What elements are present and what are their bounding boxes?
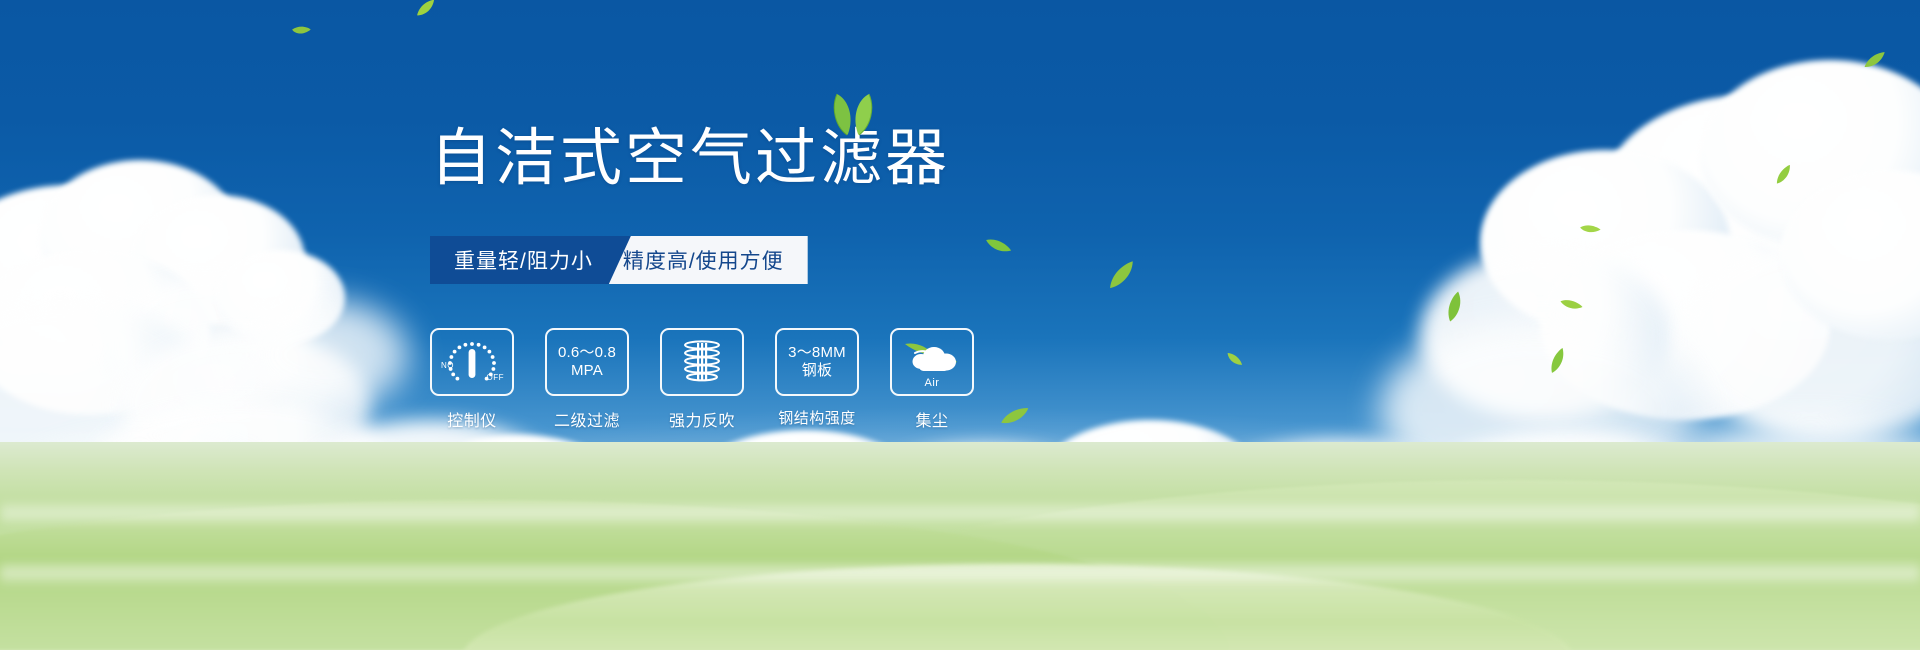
tab-label: 精度高/使用方便 <box>623 245 784 275</box>
feature-box-line2: MPA <box>558 362 616 380</box>
feature-label: 强力反吹 <box>669 407 735 431</box>
feature-box-line2: 钢板 <box>788 362 846 380</box>
banner-content: 自洁式空气过滤器 重量轻/阻力小 精度高/使用方便 <box>0 0 1920 650</box>
title-block: 自洁式空气过滤器 <box>430 128 950 190</box>
feature-strong-backblow[interactable]: 强力反吹 <box>660 328 744 431</box>
feature-two-stage-filtration[interactable]: 0.6～0.8 MPA 二级过滤 <box>545 328 629 431</box>
pressure-text-icon: 0.6～0.8 MPA <box>558 344 616 379</box>
feature-box-line1: 3～8MM <box>788 344 846 362</box>
feature-icon-box: Air <box>890 328 974 396</box>
feature-icon-box: 3～8MM 钢板 <box>775 328 859 396</box>
steel-plate-text-icon: 3～8MM 钢板 <box>788 344 846 379</box>
feature-icon-box <box>660 328 744 396</box>
feature-label: 集尘 <box>915 407 948 431</box>
feature-label: 二级过滤 <box>554 407 620 431</box>
banner-stage: 自洁式空气过滤器 重量轻/阻力小 精度高/使用方便 <box>0 0 1920 650</box>
feature-controller[interactable]: NO OFF 控制仪 <box>430 328 514 431</box>
tab-high-precision-easy-use[interactable]: 精度高/使用方便 <box>609 236 808 284</box>
feature-icon-box: NO OFF <box>430 328 514 396</box>
feature-dust-collection[interactable]: Air 集尘 <box>890 328 974 431</box>
title-leaf-pair-icon <box>825 92 881 141</box>
cloud-air-icon <box>901 338 963 382</box>
subtitle-tabs: 重量轻/阻力小 精度高/使用方便 <box>430 236 808 284</box>
feature-label: 控制仪 <box>447 407 497 431</box>
gauge-off-label: OFF <box>487 373 505 382</box>
gauge-no-label: NO <box>441 361 454 370</box>
feature-label: 钢结构强度 <box>778 407 856 428</box>
filter-coil-icon <box>676 337 728 387</box>
feature-list: NO OFF 控制仪 0.6～0.8 MPA 二级过滤 <box>430 328 974 431</box>
feature-icon-box: 0.6～0.8 MPA <box>545 328 629 396</box>
tab-label: 重量轻/阻力小 <box>454 245 593 275</box>
tab-lightweight-low-resistance[interactable]: 重量轻/阻力小 <box>430 236 631 284</box>
feature-box-line1: 0.6～0.8 <box>558 344 616 362</box>
air-label: Air <box>892 377 972 389</box>
feature-steel-structure-strength[interactable]: 3～8MM 钢板 钢结构强度 <box>775 328 859 431</box>
